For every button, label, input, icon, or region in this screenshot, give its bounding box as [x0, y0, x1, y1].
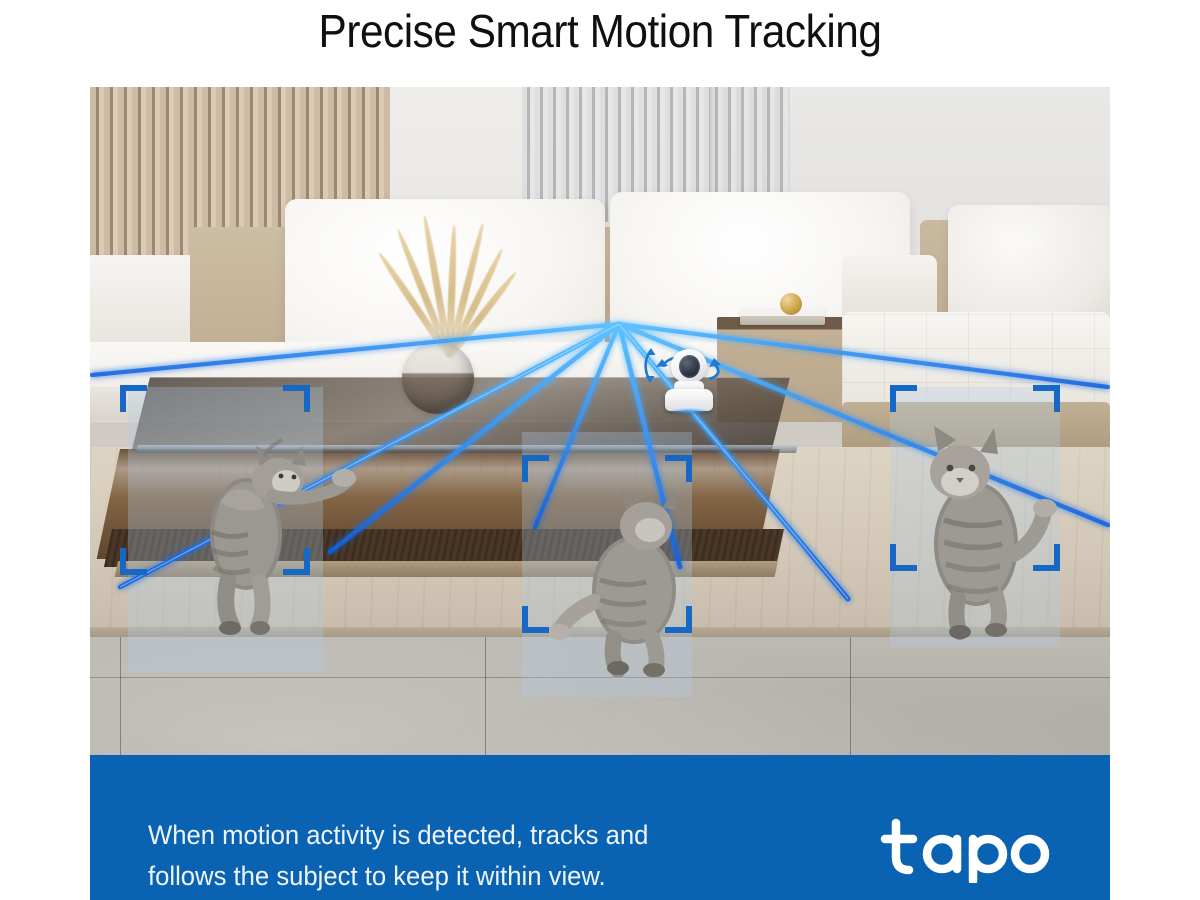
tapo-pan-tilt-camera[interactable]	[658, 349, 720, 411]
glass-vase	[402, 342, 474, 414]
caption-line-2: follows the subject to keep it within vi…	[148, 856, 794, 897]
tracking-bracket-right[interactable]	[890, 385, 1060, 571]
product-feature-card: Precise Smart Motion Tracking	[0, 0, 1200, 900]
caption-line-1: When motion activity is detected, tracks…	[148, 815, 794, 856]
caption-bar: When motion activity is detected, tracks…	[90, 755, 1110, 900]
camera-lens	[679, 355, 700, 378]
pampas-grass	[390, 192, 510, 357]
gold-decor-sphere	[780, 293, 802, 315]
caption-text: When motion activity is detected, tracks…	[148, 815, 794, 897]
tapo-logo	[880, 817, 1055, 883]
right-sofa-pillow	[948, 205, 1110, 325]
page-title: Precise Smart Motion Tracking	[48, 0, 1152, 62]
tracking-bracket-left[interactable]	[120, 385, 310, 575]
camera-status-glow	[668, 408, 710, 414]
tracking-bracket-center[interactable]	[522, 455, 692, 633]
